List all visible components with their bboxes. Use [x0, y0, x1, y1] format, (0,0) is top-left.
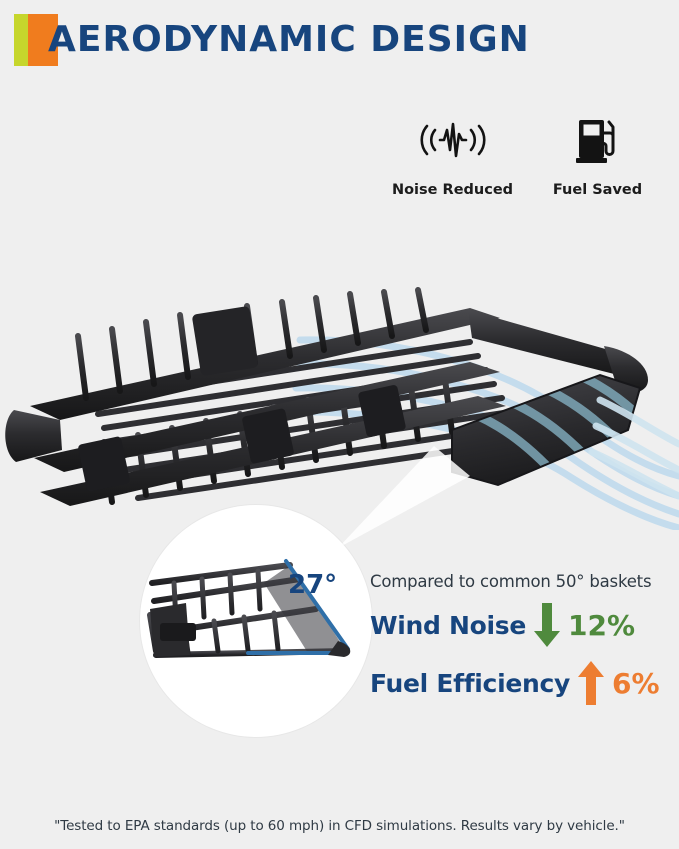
feature-label: Fuel Saved	[553, 182, 642, 198]
stat-value: 6%	[612, 667, 660, 700]
stat-value: 12%	[568, 609, 635, 642]
rack-right-rail	[468, 310, 622, 376]
angle-label: 27°	[288, 570, 337, 600]
accent-bar-yellow	[14, 14, 28, 66]
callout-side-profile	[140, 505, 372, 737]
feature-noise-reduced: Noise Reduced	[380, 112, 525, 198]
sound-wave-icon	[417, 112, 489, 168]
stat-row-fuel-efficiency: Fuel Efficiency 6%	[370, 659, 675, 707]
stat-label: Fuel Efficiency	[370, 669, 570, 698]
fuel-pump-icon	[574, 112, 622, 168]
feature-label: Noise Reduced	[392, 182, 513, 198]
stat-label: Wind Noise	[370, 611, 526, 640]
arrow-up-icon	[576, 659, 606, 707]
stat-row-wind-noise: Wind Noise 12%	[370, 601, 675, 649]
stats-caption: Compared to common 50° baskets	[370, 572, 675, 591]
feature-fuel-saved: Fuel Saved	[525, 112, 670, 198]
infographic-canvas: AERODYNAMIC DESIGN Noise Reduced	[0, 0, 679, 849]
page-title: AERODYNAMIC DESIGN	[14, 14, 530, 66]
title-text: AERODYNAMIC DESIGN	[48, 14, 530, 66]
stats-block: Compared to common 50° baskets Wind Nois…	[370, 572, 675, 707]
feature-list: Noise Reduced Fuel Saved	[380, 112, 670, 198]
footer-disclaimer: "Tested to EPA standards (up to 60 mph) …	[0, 818, 679, 834]
arrow-down-icon	[532, 601, 562, 649]
